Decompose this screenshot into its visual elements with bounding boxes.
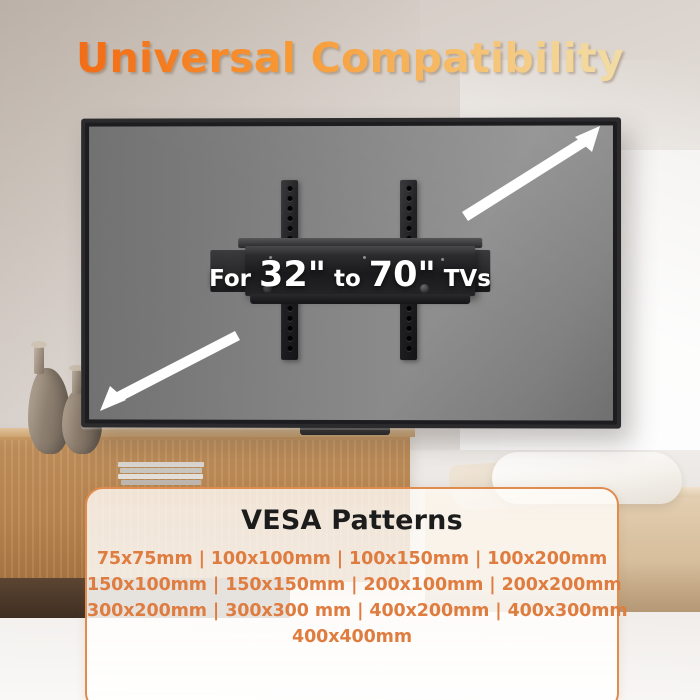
vase-tall-neck (34, 344, 44, 374)
vesa-patterns-panel: VESA Patterns 75x75mm | 100x100mm | 100x… (85, 487, 619, 700)
tv-size-max: 70" (369, 255, 436, 295)
vase-tall-lip (31, 341, 47, 348)
book-stack (118, 462, 204, 484)
vesa-pattern-row: 300x200mm | 300x300 mm | 400x200mm | 400… (87, 599, 617, 625)
vase-short-neck (72, 368, 81, 394)
tv-size-min: 32" (259, 255, 326, 295)
tv-size-range-text: For 32" to 70" TVs (0, 255, 700, 295)
tv-size-middle: to (326, 266, 369, 292)
page-title: Universal Compatibility (0, 34, 700, 82)
infographic-stage: Universal Compatibility (0, 0, 700, 700)
tv-size-prefix: For (209, 266, 259, 292)
vesa-pattern-row: 75x75mm | 100x100mm | 100x150mm | 100x20… (87, 547, 617, 573)
vesa-pattern-list: 75x75mm | 100x100mm | 100x150mm | 100x20… (87, 547, 617, 651)
vesa-pattern-row: 400x400mm (87, 625, 617, 651)
vesa-pattern-row: 150x100mm | 150x150mm | 200x100mm | 200x… (87, 573, 617, 599)
tv-size-suffix: TVs (436, 266, 491, 292)
vesa-panel-title: VESA Patterns (87, 505, 617, 536)
tv-stand (300, 427, 390, 435)
mount-rail-bottom-edge (250, 294, 470, 304)
